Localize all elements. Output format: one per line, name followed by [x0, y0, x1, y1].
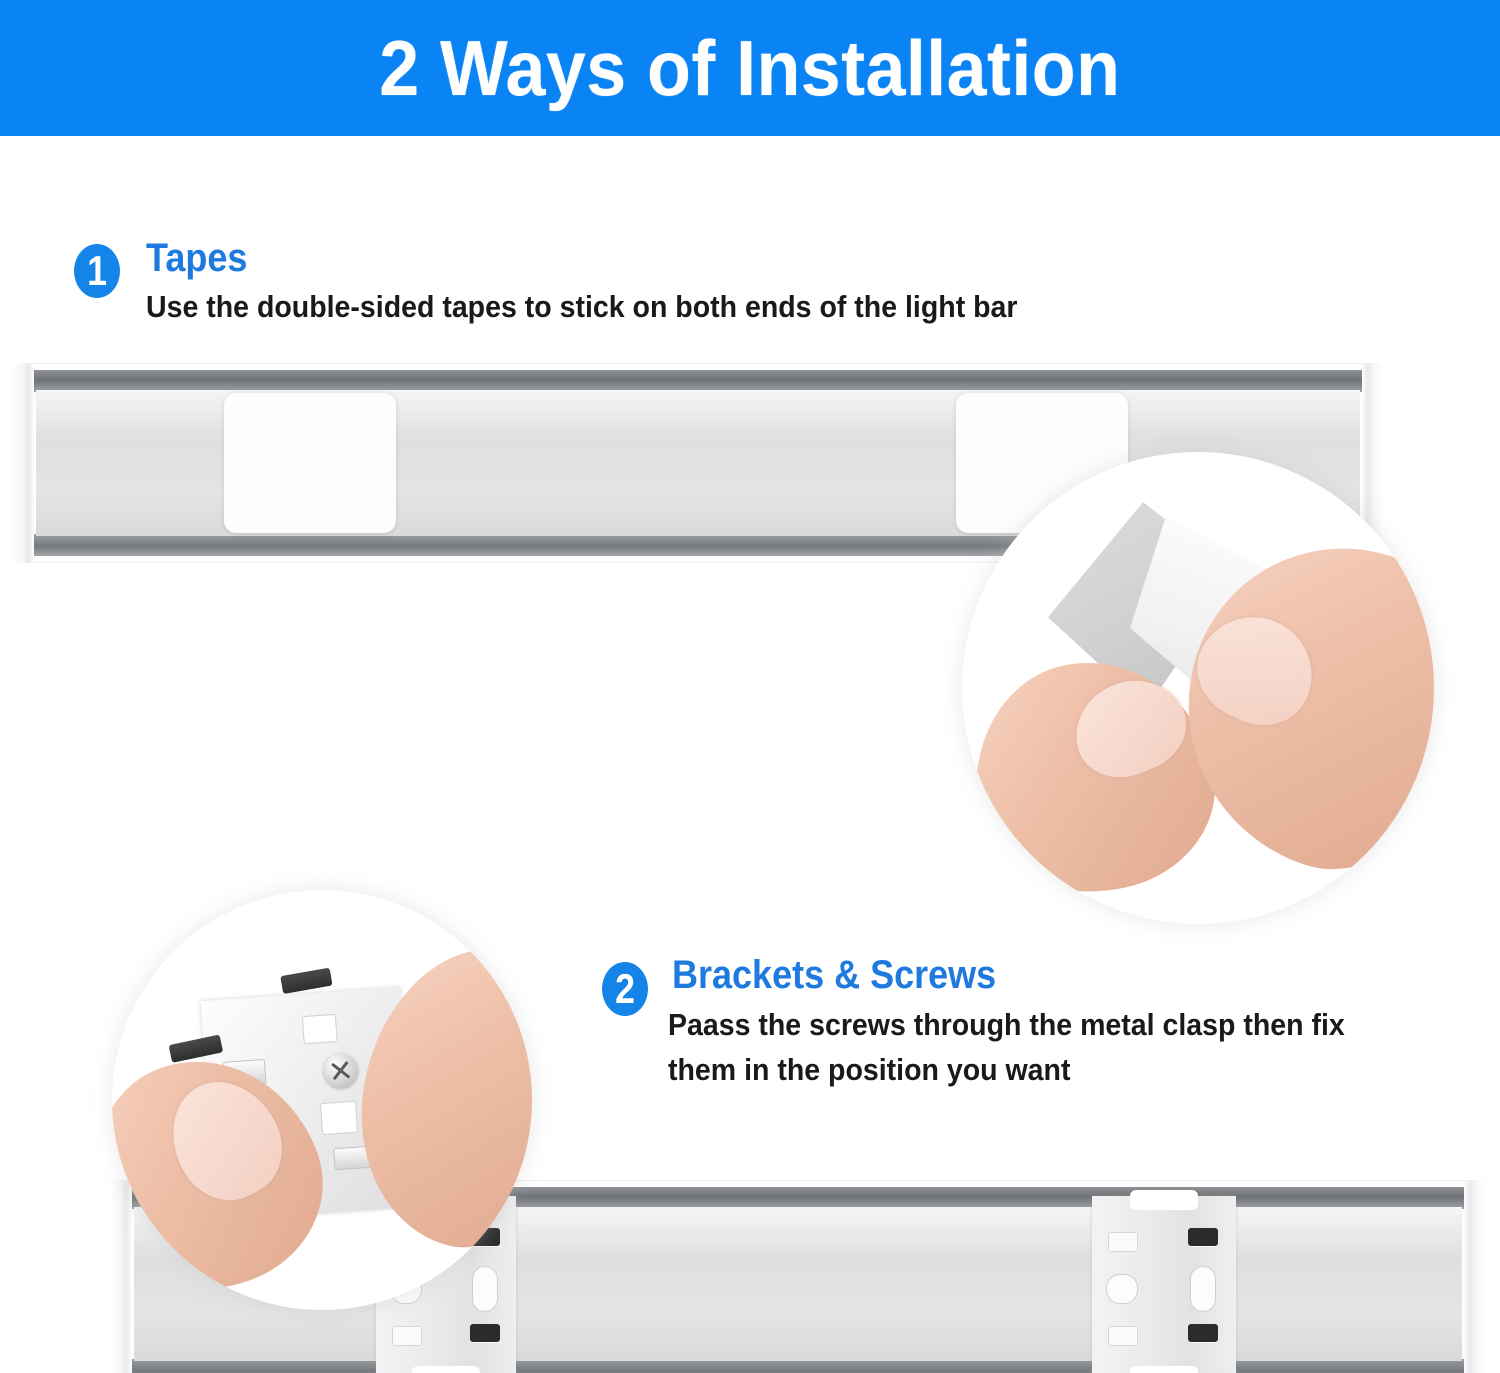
- page-title: 2 Ways of Installation: [379, 29, 1120, 107]
- bar-endcap-left: [12, 363, 34, 563]
- bracket-slot-dark-bottom: [1188, 1324, 1218, 1342]
- bracket-screw-hole: [472, 1266, 498, 1312]
- header-banner: 2 Ways of Installation: [0, 0, 1500, 136]
- step-2-number-badge: 2: [602, 962, 648, 1016]
- bracket-notch-bottom: [412, 1366, 480, 1373]
- bracket-slot-light-bottom: [1108, 1326, 1138, 1346]
- bracket-screw-hole: [1190, 1266, 1216, 1312]
- clasp-hole-mid-right: [320, 1101, 358, 1135]
- clasp-tab-dark-top: [280, 968, 332, 994]
- screw-head: [323, 1052, 359, 1088]
- bar-endcap-right: [1464, 1180, 1486, 1373]
- clasp-tab-dark-upper-left: [169, 1034, 224, 1062]
- step-2-description: Paass the screws through the metal clasp…: [668, 1003, 1413, 1093]
- bracket-slot-dark-top: [1188, 1228, 1218, 1246]
- adhesive-tape-pad-left: [224, 393, 396, 533]
- bracket-slot-dark-bottom: [470, 1324, 500, 1342]
- bracket-slot-light-top: [1108, 1232, 1138, 1252]
- step-1-number-badge: 1: [74, 244, 120, 298]
- step-1-description: Use the double-sided tapes to stick on b…: [146, 285, 1066, 330]
- bracket-oval-hole-left: [1106, 1274, 1138, 1304]
- mounting-bracket-right: [1092, 1196, 1236, 1373]
- step-1-title: Tapes: [146, 238, 247, 278]
- tape-peel-photo-inset: [962, 452, 1434, 924]
- bracket-photo-inset: [112, 890, 532, 1310]
- clasp-hole-top-right: [302, 1014, 338, 1044]
- installation-infographic: 2 Ways of Installation 1 Tapes Use the d…: [0, 0, 1500, 1373]
- bar-channel-top: [34, 370, 1362, 392]
- step-2-title: Brackets & Screws: [672, 955, 996, 995]
- bracket-notch-top: [1130, 1190, 1198, 1210]
- bracket-notch-bottom: [1130, 1366, 1198, 1373]
- bracket-slot-light-bottom: [392, 1326, 422, 1346]
- bar-channel-bottom: [132, 1359, 1464, 1373]
